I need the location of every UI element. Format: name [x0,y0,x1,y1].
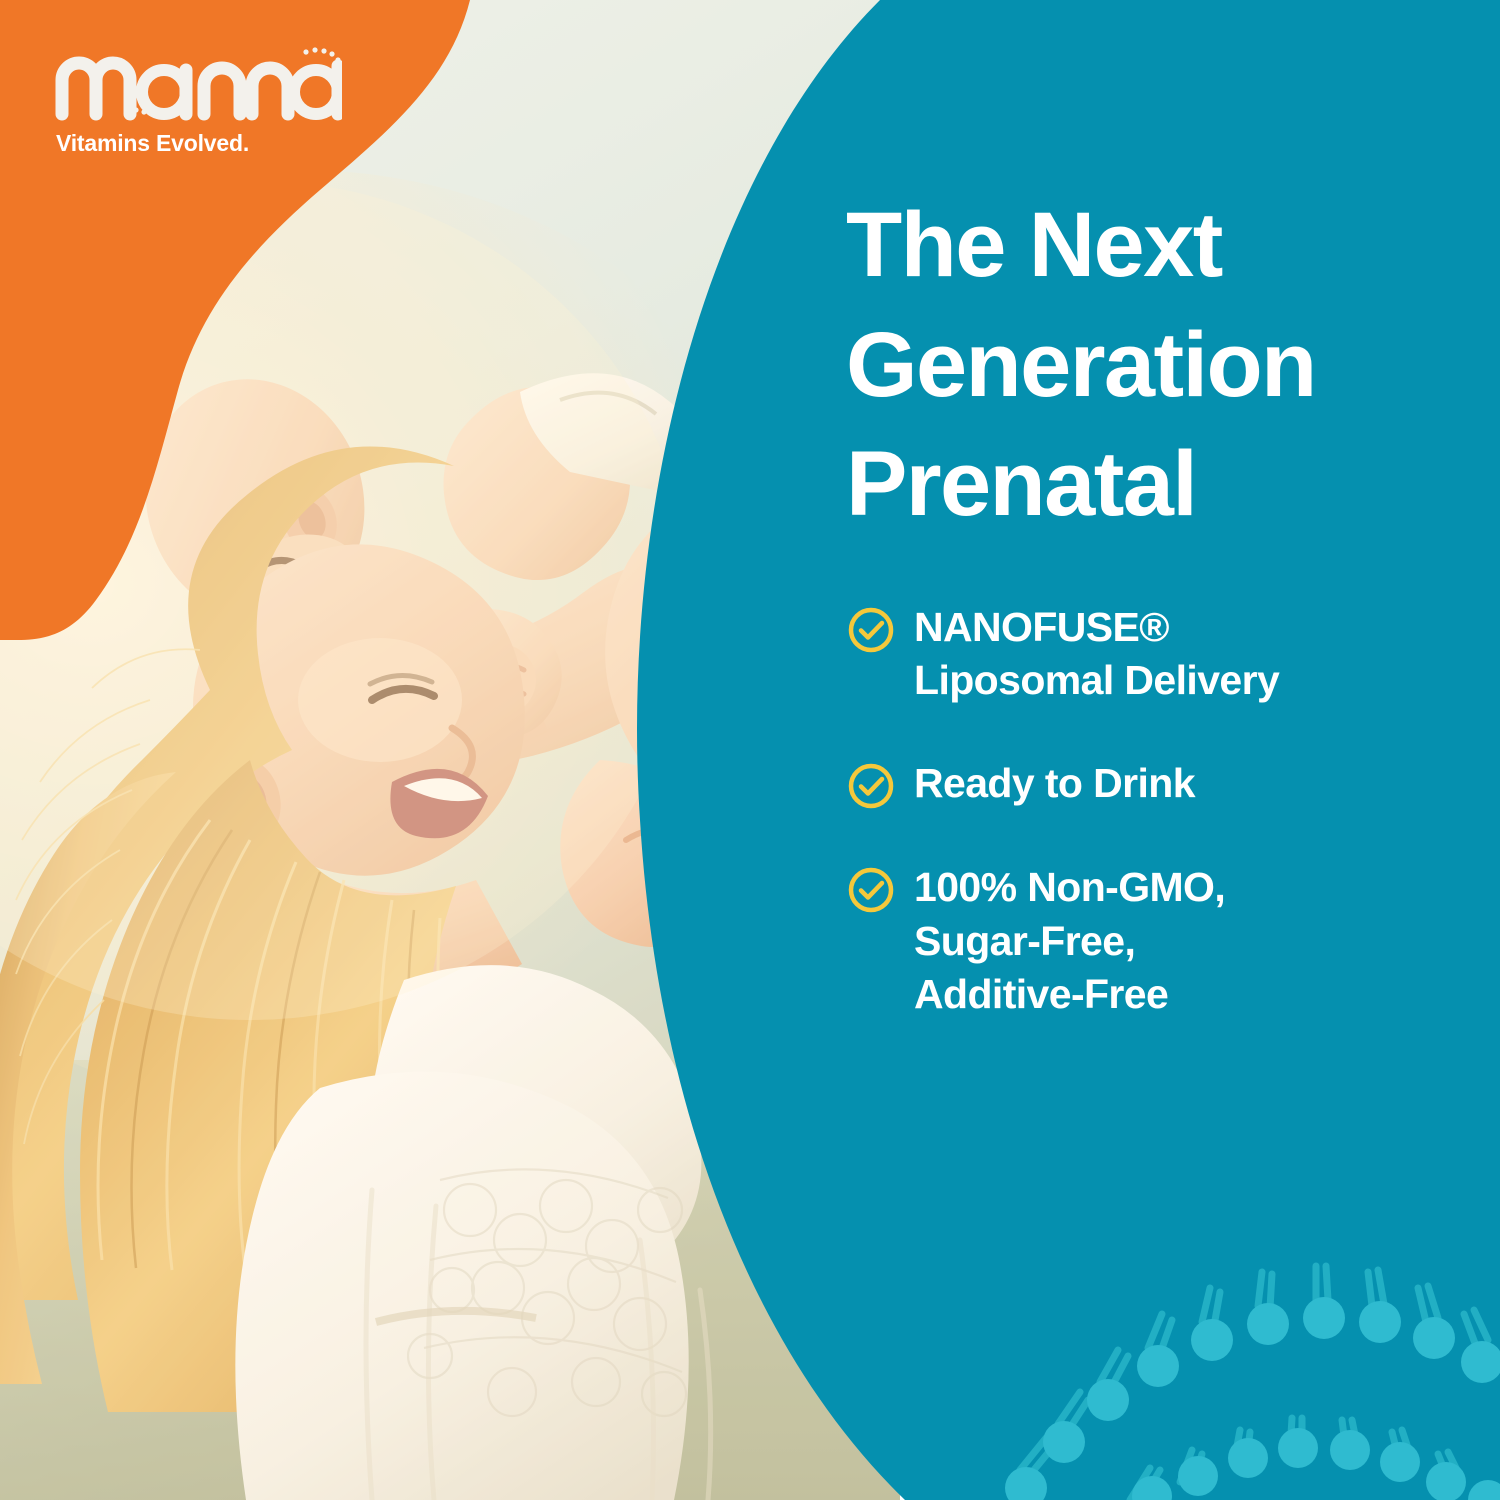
content-column: The Next Generation Prenatal NANOFUSE® L… [846,186,1472,1021]
marketing-banner: Vitamins Evolved. [0,0,1500,1500]
list-item-label: NANOFUSE® Liposomal Delivery [914,601,1279,708]
brand-tagline: Vitamins Evolved. [56,132,382,155]
check-circle-icon [846,761,896,811]
page-title: The Next Generation Prenatal [846,186,1472,545]
manna-wordmark-icon [52,36,342,122]
check-circle-icon [846,865,896,915]
liposome-bilayer-graphic [980,1170,1500,1500]
list-item: NANOFUSE® Liposomal Delivery [846,601,1472,708]
list-item: Ready to Drink [846,757,1472,811]
list-item: 100% Non-GMO, Sugar-Free, Additive-Free [846,861,1472,1021]
brand-logo: Vitamins Evolved. [52,36,382,155]
list-item-label: Ready to Drink [914,757,1195,810]
feature-list: NANOFUSE® Liposomal Delivery Ready to Dr… [846,601,1472,1021]
list-item-label: 100% Non-GMO, Sugar-Free, Additive-Free [914,861,1225,1021]
check-circle-icon [846,605,896,655]
